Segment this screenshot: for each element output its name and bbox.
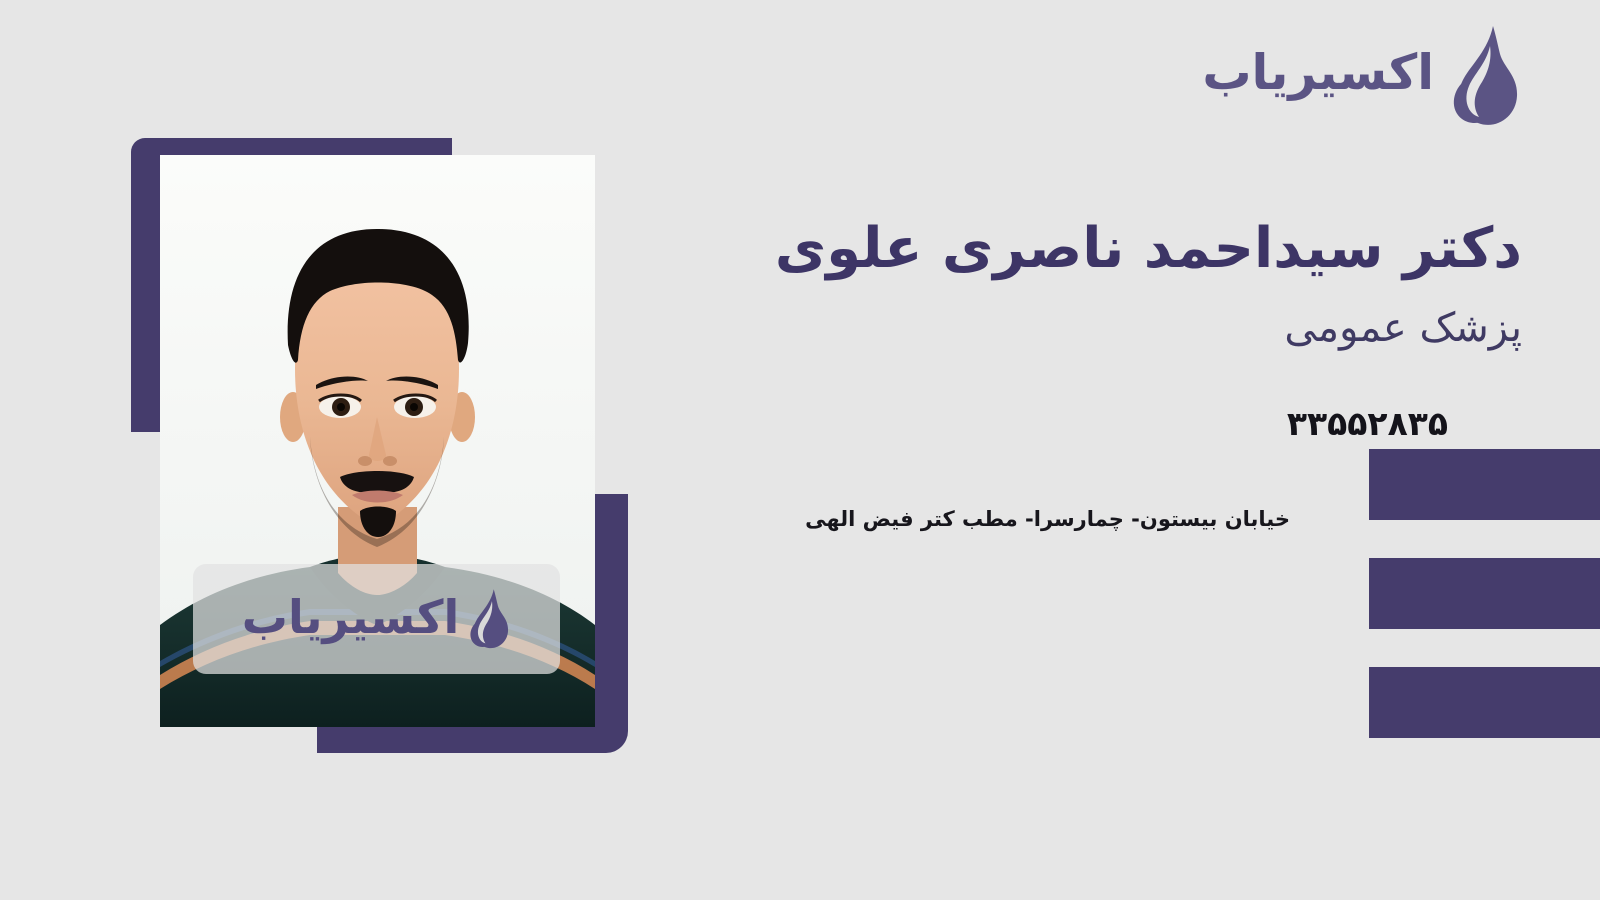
doctor-profile-card: اکسیریاب <box>0 0 1600 900</box>
flame-leaf-icon <box>461 586 511 652</box>
doctor-address: خیابان بیستون- چمارسرا- مطب کتر فیض الهی <box>622 505 1290 534</box>
brand-name: اکسیریاب <box>1202 48 1434 105</box>
photo-block: اکسیریاب <box>0 0 660 800</box>
doctor-specialty: پزشک عمومی <box>622 304 1522 352</box>
decorative-bar-3 <box>1369 667 1600 738</box>
doctor-name: دکتر سیداحمد ناصری علوی <box>622 215 1522 282</box>
doctor-info: دکتر سیداحمد ناصری علوی پزشک عمومی ۳۳۵۵۲… <box>622 215 1522 535</box>
decorative-bar-2 <box>1369 558 1600 629</box>
photo-watermark: اکسیریاب <box>193 564 560 674</box>
brand-logo[interactable]: اکسیریاب <box>1202 24 1522 128</box>
watermark-brand-name: اکسیریاب <box>242 594 460 644</box>
flame-leaf-icon <box>1438 24 1522 128</box>
doctor-phone[interactable]: ۳۳۵۵۲۸۳۵ <box>622 404 1448 443</box>
